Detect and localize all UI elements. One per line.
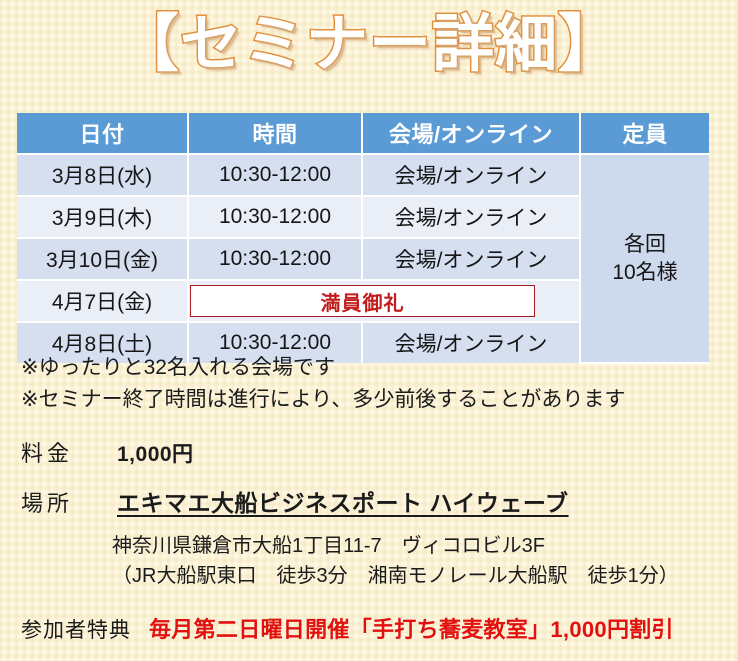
status-badge-sold-out: 満員御礼 bbox=[190, 285, 535, 317]
cell-sold-out: 満員御礼 bbox=[188, 280, 580, 322]
bonus-label: 参加者特典 bbox=[21, 614, 131, 644]
address-line-1: 神奈川県鎌倉市大船1丁目11-7 ヴィコロビル3F bbox=[112, 531, 679, 561]
column-header-capacity: 定員 bbox=[580, 113, 709, 154]
page-title-container: 【セミナー詳細】 bbox=[0, 8, 738, 79]
fee-value: 1,000円 bbox=[117, 438, 194, 468]
cell-time: 10:30-12:00 bbox=[188, 154, 362, 196]
note-line-2: ※セミナー終了時間は進行により、多少前後することがあります bbox=[21, 384, 721, 416]
info-section: 料金 1,000円 場所 エキマエ大船ビジネスポート ハイウェーブ bbox=[21, 436, 721, 534]
column-header-venue: 会場/オンライン bbox=[362, 113, 580, 154]
bonus-text: 毎月第二日曜日開催「手打ち蕎麦教室」1,000円割引 bbox=[149, 612, 674, 644]
cell-capacity: 各回 10名様 bbox=[580, 154, 709, 363]
cell-venue: 会場/オンライン bbox=[362, 196, 580, 238]
cell-time: 10:30-12:00 bbox=[188, 238, 362, 280]
address-line-2: （JR大船駅東口 徒歩3分 湘南モノレール大船駅 徒歩1分） bbox=[112, 561, 679, 591]
fee-row: 料金 1,000円 bbox=[21, 436, 721, 468]
cell-date: 3月8日(水) bbox=[17, 154, 188, 196]
schedule-table: 日付 時間 会場/オンライン 定員 3月8日(水) 10:30-12:00 会場… bbox=[17, 113, 709, 364]
note-line-1: ※ゆったりと32名入れる会場です bbox=[21, 352, 721, 384]
cell-venue: 会場/オンライン bbox=[362, 154, 580, 196]
cell-date: 4月7日(金) bbox=[17, 280, 188, 322]
fee-label: 料金 bbox=[21, 436, 117, 468]
capacity-line-2: 10名様 bbox=[582, 259, 708, 287]
bonus-section: 参加者特典 毎月第二日曜日開催「手打ち蕎麦教室」1,000円割引 bbox=[21, 612, 674, 644]
cell-venue: 会場/オンライン bbox=[362, 238, 580, 280]
place-row: 場所 エキマエ大船ビジネスポート ハイウェーブ bbox=[21, 484, 721, 518]
cell-date: 3月10日(金) bbox=[17, 238, 188, 280]
cell-time: 10:30-12:00 bbox=[188, 196, 362, 238]
table-header-row: 日付 時間 会場/オンライン 定員 bbox=[17, 113, 709, 154]
place-label: 場所 bbox=[21, 486, 117, 518]
notes-section: ※ゆったりと32名入れる会場です ※セミナー終了時間は進行により、多少前後するこ… bbox=[21, 352, 721, 416]
cell-date: 3月9日(木) bbox=[17, 196, 188, 238]
place-value: エキマエ大船ビジネスポート ハイウェーブ bbox=[117, 484, 569, 518]
schedule-table-container: 日付 時間 会場/オンライン 定員 3月8日(水) 10:30-12:00 会場… bbox=[17, 113, 709, 364]
page-title: 【セミナー詳細】 bbox=[117, 8, 621, 79]
address-block: 神奈川県鎌倉市大船1丁目11-7 ヴィコロビル3F （JR大船駅東口 徒歩3分 … bbox=[112, 531, 679, 592]
column-header-time: 時間 bbox=[188, 113, 362, 154]
column-header-date: 日付 bbox=[17, 113, 188, 154]
capacity-line-1: 各回 bbox=[582, 231, 708, 259]
table-row: 3月8日(水) 10:30-12:00 会場/オンライン 各回 10名様 bbox=[17, 154, 709, 196]
